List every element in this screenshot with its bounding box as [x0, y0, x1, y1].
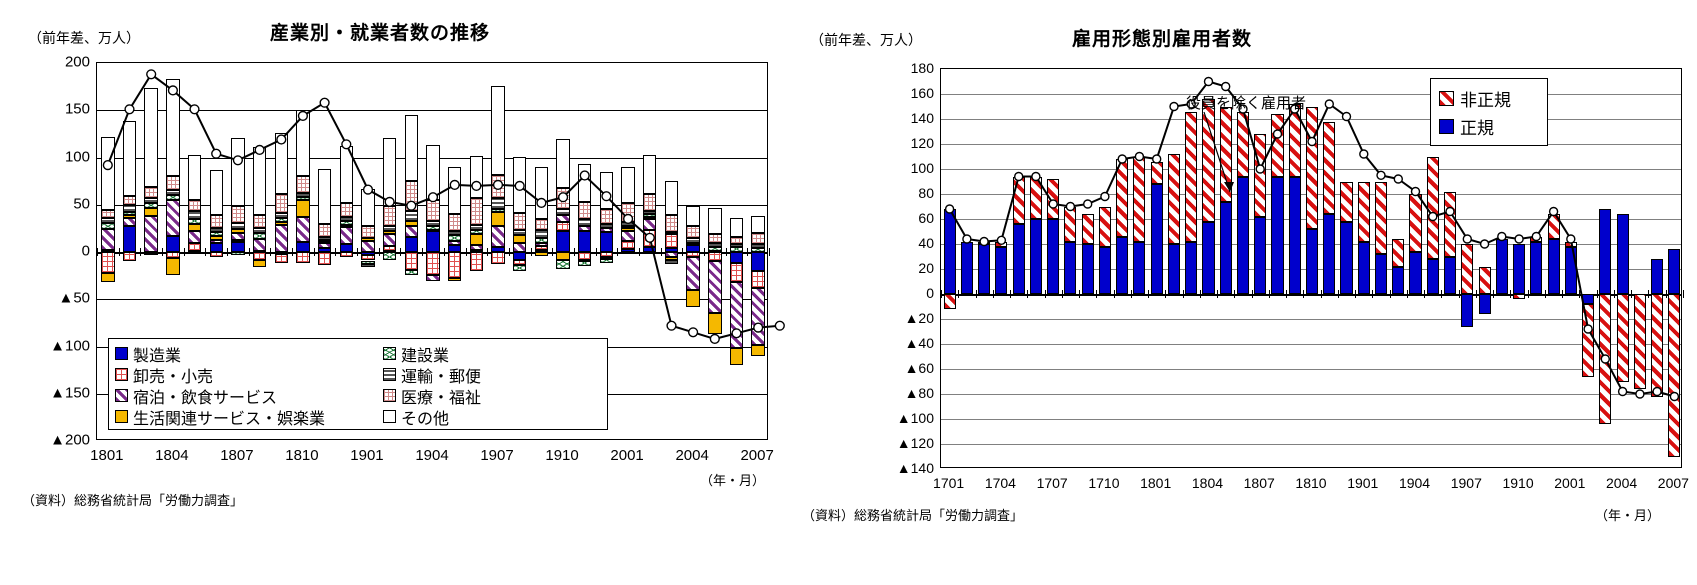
left-source-note: （資料）総務省統計局「労働力調査」 [22, 490, 243, 509]
bar-segment-transport [231, 223, 244, 230]
bar-segment-nonregular [1634, 294, 1646, 389]
axis-tick-mark [1200, 290, 1201, 298]
bar-segment-nonregular [1013, 177, 1025, 225]
bar-segment-regular [1617, 214, 1629, 294]
bar-segment-transport [426, 221, 439, 226]
bar-segment-life [253, 260, 266, 268]
bar-segment-medical [491, 175, 504, 198]
bar-segment-const [578, 261, 591, 266]
bar-segment-regular [1220, 202, 1232, 295]
axis-tick-mark [1493, 290, 1494, 298]
bar-segment-transport [621, 222, 634, 226]
bar-segment-other [210, 170, 223, 215]
bar-segment-const [101, 223, 114, 230]
bar-segment-hotel [210, 240, 223, 243]
legend-swatch-const-icon [383, 347, 396, 360]
bar-segment-other [101, 137, 114, 211]
bar-segment-const [253, 233, 266, 239]
bar-segment-other [275, 133, 288, 194]
bar-segment-life [340, 225, 353, 228]
bar-segment-medical [535, 219, 548, 230]
bar-segment-regular [1444, 257, 1456, 295]
x-axis-tick-label: 2004 [675, 448, 708, 463]
y-axis-tick-label: 160 [911, 86, 934, 100]
bar-segment-transport [686, 238, 699, 243]
axis-tick-mark [1441, 290, 1442, 298]
bar-segment-wholesale [231, 240, 244, 242]
axis-tick-mark [1562, 290, 1563, 298]
axis-tick-mark [1217, 290, 1218, 298]
stacked-bar [1634, 69, 1646, 469]
bar-segment-wholesale [556, 222, 569, 231]
bar-segment-mfg [600, 232, 613, 252]
bar-segment-life [730, 348, 743, 365]
bar-segment-other [426, 145, 439, 200]
axis-tick-mark [941, 290, 942, 298]
bar-segment-other [513, 157, 526, 214]
bar-segment-transport [166, 190, 179, 196]
axis-tick-mark [1148, 290, 1149, 298]
bar-segment-wholesale [665, 234, 678, 248]
bar-segment-medical [144, 187, 157, 198]
axis-tick-mark [1683, 290, 1684, 298]
bar-segment-wholesale [426, 252, 439, 275]
bar-segment-nonregular [1548, 214, 1560, 239]
bar-segment-medical [101, 210, 114, 218]
x-axis-tick-label: 1901 [1347, 476, 1378, 490]
y-axis-tick-label: ▲20 [905, 311, 934, 325]
x-axis-tick-label: 1904 [1399, 476, 1430, 490]
axis-tick-mark [1510, 290, 1511, 298]
bar-segment-mfg [405, 237, 418, 252]
bar-segment-regular [1651, 259, 1663, 294]
legend-swatch-transport-icon [383, 368, 396, 381]
bar-segment-nonregular [1427, 157, 1439, 260]
axis-tick-mark [1234, 290, 1235, 298]
axis-tick-mark [509, 248, 510, 256]
bar-segment-regular [1082, 244, 1094, 294]
bar-segment-life [318, 242, 331, 244]
axis-tick-mark [1459, 290, 1460, 298]
stacked-bar [621, 63, 634, 441]
bar-segment-hotel [296, 217, 309, 242]
bar-segment-regular [1582, 294, 1594, 304]
stacked-bar [978, 69, 990, 469]
axis-tick-mark [335, 248, 336, 256]
bar-segment-transport [318, 237, 331, 240]
bar-segment-regular [961, 242, 973, 295]
bar-segment-wholesale [643, 230, 656, 247]
bar-segment-medical [188, 200, 201, 211]
bar-segment-hotel [730, 282, 743, 348]
bar-segment-hotel [188, 231, 201, 242]
bar-segment-medical [621, 203, 634, 222]
bar-segment-regular [1323, 214, 1335, 294]
bar-segment-nonregular [1271, 114, 1283, 177]
bar-segment-mfg [340, 244, 353, 252]
axis-tick-mark [1648, 290, 1649, 298]
bar-segment-nonregular [1340, 182, 1352, 222]
bar-segment-hotel [253, 239, 266, 251]
bar-segment-transport [340, 217, 353, 221]
axis-tick-mark [1476, 290, 1477, 298]
bar-segment-const [621, 226, 634, 229]
bar-segment-transport [708, 243, 721, 247]
bar-segment-nonregular [1151, 162, 1163, 185]
bar-segment-hotel [535, 243, 548, 247]
y-axis-tick-label: 50 [73, 196, 90, 211]
bar-segment-nonregular [1168, 154, 1180, 244]
bar-segment-const [470, 230, 483, 234]
axis-tick-mark [249, 248, 250, 256]
axis-tick-mark [270, 248, 271, 256]
axis-tick-mark [1597, 290, 1598, 298]
axis-tick-mark [1424, 290, 1425, 298]
bar-segment-const [144, 203, 157, 208]
bar-segment-transport [470, 225, 483, 231]
bar-segment-nonregular [995, 242, 1007, 247]
bar-segment-regular [1099, 247, 1111, 295]
stacked-bar [643, 63, 656, 441]
x-axis-tick-label: 1807 [220, 448, 253, 463]
right-legend: 非正規正規 [1430, 78, 1548, 146]
bar-segment-hotel [361, 241, 374, 252]
axis-tick-mark [596, 248, 597, 256]
bar-segment-transport [600, 224, 613, 229]
bar-segment-wholesale [188, 243, 201, 252]
axis-tick-mark [1045, 290, 1046, 298]
bar-segment-nonregular [1237, 112, 1249, 177]
right-unit-label: （前年差、万人） [810, 30, 922, 50]
bar-segment-regular [1496, 239, 1508, 294]
axis-tick-mark [422, 248, 423, 256]
bar-segment-nonregular [1358, 182, 1370, 242]
bar-segment-other [556, 139, 569, 188]
bar-segment-nonregular [1082, 214, 1094, 244]
bar-segment-life [231, 229, 244, 233]
bar-segment-const [665, 232, 678, 234]
bar-segment-wholesale [470, 252, 483, 271]
axis-tick-mark [1372, 290, 1373, 298]
y-axis-tick-label: 40 [918, 236, 934, 250]
bar-segment-nonregular [1047, 179, 1059, 219]
bar-segment-wholesale [253, 252, 266, 260]
line-marker [775, 321, 784, 330]
axis-tick-mark [574, 248, 575, 256]
axis-tick-mark [1131, 290, 1132, 298]
x-axis-tick-label: 1707 [1037, 476, 1068, 490]
bar-segment-hotel [600, 228, 613, 232]
bar-segment-transport [188, 211, 201, 219]
axis-tick-mark [1355, 290, 1356, 298]
axis-tick-mark [140, 248, 141, 256]
bar-segment-transport [643, 211, 656, 214]
y-axis-tick-label: 0 [926, 286, 934, 300]
bar-segment-const [556, 260, 569, 269]
bar-segment-mfg [166, 236, 179, 252]
legend-swatch-medical-icon [383, 389, 396, 402]
axis-tick-mark [444, 248, 445, 256]
bar-segment-hotel [383, 234, 396, 246]
x-axis-tick-label: 2007 [1658, 476, 1689, 490]
bar-segment-regular [1358, 242, 1370, 295]
axis-tick-mark [726, 248, 727, 256]
bar-segment-wholesale [708, 252, 721, 261]
bar-segment-wholesale [535, 246, 548, 250]
bar-segment-hotel [426, 275, 439, 282]
bar-segment-regular [1185, 242, 1197, 295]
bar-segment-nonregular [1409, 194, 1421, 252]
axis-tick-mark [314, 248, 315, 256]
axis-tick-mark [1545, 290, 1546, 298]
bar-segment-transport [123, 205, 136, 213]
stacked-bar [1375, 69, 1387, 469]
stacked-bar [1030, 69, 1042, 469]
bar-segment-regular [1306, 229, 1318, 294]
bar-segment-life [621, 228, 634, 231]
bar-segment-regular [1030, 219, 1042, 294]
x-axis-tick-label: 1901 [350, 448, 383, 463]
bar-segment-const [686, 243, 699, 246]
axis-tick-mark [976, 290, 977, 298]
bar-segment-wholesale [730, 263, 743, 282]
bar-segment-life [470, 234, 483, 245]
bar-segment-life [556, 252, 569, 260]
bar-segment-other [643, 155, 656, 195]
x-axis-tick-label: 1810 [1295, 476, 1326, 490]
bar-segment-medical [166, 176, 179, 189]
legend-item-regular[interactable]: 正規 [1439, 114, 1539, 139]
bar-segment-const [405, 270, 418, 275]
x-axis-tick-label: 1801 [90, 448, 123, 463]
bar-segment-medical [340, 203, 353, 217]
bar-segment-hotel [513, 243, 526, 252]
bar-segment-const [275, 218, 288, 222]
bar-segment-regular [1668, 249, 1680, 294]
bar-segment-wholesale [448, 252, 461, 278]
bar-segment-other [665, 181, 678, 215]
bar-segment-other [448, 167, 461, 214]
bar-segment-wholesale [101, 252, 114, 273]
bar-segment-mfg [578, 231, 591, 252]
legend-swatch-life-icon [115, 410, 128, 423]
bar-segment-other [166, 79, 179, 176]
x-axis-tick-label: 1907 [480, 448, 513, 463]
axis-tick-mark [1114, 290, 1115, 298]
bar-segment-life [166, 258, 179, 275]
bar-segment-mfg [513, 252, 526, 260]
bar-segment-medical [123, 196, 136, 205]
bar-segment-medical [643, 194, 656, 211]
bar-segment-regular [1599, 209, 1611, 294]
legend-swatch-mfg-icon [115, 347, 128, 360]
bar-segment-nonregular [1202, 99, 1214, 222]
stacked-bar [1099, 69, 1111, 469]
bar-segment-hotel [621, 231, 634, 240]
left-axis-unit: （年・月） [700, 470, 765, 489]
bar-segment-mfg [448, 245, 461, 252]
bar-segment-hotel [491, 226, 504, 247]
bar-segment-other [340, 146, 353, 203]
stacked-bar [1651, 69, 1663, 469]
bar-segment-hotel [448, 241, 461, 246]
y-axis-tick-label: ▲50 [58, 291, 90, 306]
y-axis-tick-label: 180 [911, 61, 934, 75]
axis-tick-mark [205, 248, 206, 256]
stacked-bar [1082, 69, 1094, 469]
left-chart-title: 産業別・就業者数の推移 [270, 18, 490, 45]
bar-segment-medical [296, 176, 309, 193]
x-axis-tick-label: 1810 [285, 448, 318, 463]
stacked-bar [1151, 69, 1163, 469]
bar-segment-transport [253, 228, 266, 233]
bar-segment-life [426, 230, 439, 232]
right-chart-panel: （前年差、万人） 雇用形態別雇用者数 役員を除く雇用者 非正規正規 （資料）総務… [800, 0, 1697, 585]
bar-segment-hotel [275, 225, 288, 252]
bar-segment-nonregular [1651, 294, 1663, 397]
bar-segment-nonregular [978, 242, 990, 245]
stacked-bar [1220, 69, 1232, 469]
axis-tick-mark [119, 248, 120, 256]
bar-segment-mfg [751, 252, 764, 271]
x-axis-tick-label: 1801 [1140, 476, 1171, 490]
bar-segment-medical [231, 206, 244, 223]
legend-label: 非正規 [1460, 86, 1511, 111]
bar-segment-life [491, 212, 504, 226]
legend-item-other[interactable]: その他 [383, 405, 615, 429]
bar-segment-transport [405, 211, 418, 220]
x-axis-tick-label: 2001 [1554, 476, 1585, 490]
bar-segment-life [296, 200, 309, 217]
bar-segment-transport [275, 213, 288, 218]
x-axis-tick-label: 1907 [1451, 476, 1482, 490]
bar-segment-hotel [405, 226, 418, 237]
bar-segment-life [643, 217, 656, 219]
bar-segment-regular [1289, 177, 1301, 295]
legend-item-nonregular[interactable]: 非正規 [1439, 86, 1539, 111]
bar-segment-medical [361, 226, 374, 237]
stacked-bar [1306, 69, 1318, 469]
bar-segment-wholesale [275, 254, 288, 263]
stacked-bar [1599, 69, 1611, 469]
bar-segment-const [188, 219, 201, 224]
axis-tick-mark [1528, 290, 1529, 298]
bar-segment-mfg [123, 226, 136, 252]
axis-tick-mark [552, 248, 553, 256]
bar-segment-medical [730, 237, 743, 245]
bar-segment-nonregular [1513, 294, 1525, 299]
bar-segment-other [751, 216, 764, 233]
axis-tick-mark [704, 248, 705, 256]
bar-segment-hotel [231, 233, 244, 240]
axis-tick-mark [1252, 290, 1253, 298]
x-axis-tick-label: 2007 [740, 448, 773, 463]
axis-tick-mark [617, 248, 618, 256]
axis-tick-mark [993, 290, 994, 298]
axis-tick-mark [1390, 290, 1391, 298]
bar-segment-const [318, 240, 331, 242]
y-axis-tick-label: ▲100 [50, 338, 90, 353]
bar-segment-hotel [318, 243, 331, 248]
bar-segment-other [535, 167, 548, 219]
left-legend: 製造業建設業卸売・小売運輸・郵便宿泊・飲食サービス医療・福祉生活関連サービス・娯… [108, 338, 608, 430]
bar-segment-const [448, 235, 461, 241]
stacked-bar [1323, 69, 1335, 469]
bar-segment-life [448, 278, 461, 281]
legend-item-life[interactable]: 生活関連サービス・娯楽業 [115, 405, 383, 429]
bar-segment-wholesale [144, 253, 157, 255]
bar-segment-nonregular [1375, 182, 1387, 255]
y-axis-tick-label: ▲200 [50, 433, 90, 448]
bar-segment-transport [665, 260, 678, 265]
axis-tick-mark [487, 248, 488, 256]
bar-segment-regular [1548, 239, 1560, 294]
bar-segment-regular [1133, 242, 1145, 295]
bar-segment-life [708, 313, 721, 334]
bar-segment-medical [665, 215, 678, 232]
axis-tick-mark [769, 248, 770, 256]
stacked-bar [1047, 69, 1059, 469]
y-axis-tick-label: ▲120 [897, 436, 934, 450]
stacked-bar [1168, 69, 1180, 469]
bar-segment-other [470, 156, 483, 199]
bar-segment-nonregular [1133, 157, 1145, 242]
bar-segment-life [101, 273, 114, 282]
right-chart-title: 雇用形態別雇用者数 [1072, 24, 1252, 51]
bar-segment-nonregular [1617, 294, 1629, 382]
legend-swatch-regular-icon [1439, 119, 1454, 134]
bar-segment-wholesale [621, 241, 634, 250]
bar-segment-mfg [426, 231, 439, 252]
stacked-bar [944, 69, 956, 469]
stacked-bar [1116, 69, 1128, 469]
axis-tick-mark [639, 248, 640, 256]
bar-segment-transport [296, 193, 309, 197]
stacked-bar [1064, 69, 1076, 469]
bar-segment-transport [383, 226, 396, 231]
bar-segment-life [686, 290, 699, 307]
y-axis-tick-label: ▲60 [905, 361, 934, 375]
axis-tick-mark [1010, 290, 1011, 298]
bar-segment-life [210, 236, 223, 240]
bar-segment-medical [210, 215, 223, 228]
axis-tick-mark [1096, 290, 1097, 298]
bar-segment-hotel [340, 227, 353, 244]
y-axis-tick-label: 150 [65, 102, 90, 117]
x-axis-tick-label: 1904 [415, 448, 448, 463]
bar-segment-nonregular [1306, 107, 1318, 230]
bar-segment-regular [1479, 294, 1491, 314]
axis-tick-mark [1269, 290, 1270, 298]
bar-segment-life [144, 208, 157, 217]
bar-segment-const [600, 259, 613, 264]
bar-segment-nonregular [1254, 134, 1266, 217]
bar-segment-medical [600, 209, 613, 223]
y-axis-tick-label: ▲140 [897, 461, 934, 475]
bar-segment-regular [944, 209, 956, 294]
y-axis-tick-label: 200 [65, 55, 90, 70]
bar-segment-nonregular [1668, 294, 1680, 457]
axis-tick-mark [162, 248, 163, 256]
bar-segment-regular [1064, 242, 1076, 295]
bar-segment-medical [708, 234, 721, 243]
stacked-bar [1289, 69, 1301, 469]
bar-segment-transport [751, 244, 764, 248]
y-axis-tick-label: 100 [911, 161, 934, 175]
bar-segment-other [318, 169, 331, 224]
bar-segment-const [751, 248, 764, 252]
bar-segment-regular [1530, 242, 1542, 295]
